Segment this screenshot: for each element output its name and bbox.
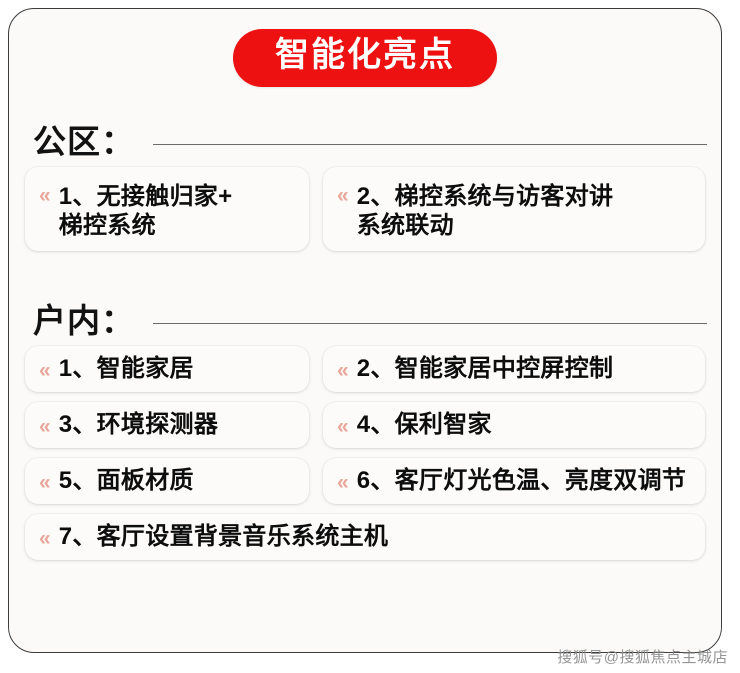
card-label: 1、智能家居 [59,354,194,383]
chevron-double-left-icon: « [337,416,347,437]
chevron-double-left-icon: « [39,185,49,206]
section-header-public: 公区： [9,115,721,167]
card-indoor-5[interactable]: « 5、面板材质 [25,458,309,504]
chevron-double-left-icon: « [39,528,49,549]
section-divider-public [153,144,707,145]
card-row: « 1、智能家居 « 2、智能家居中控屏控制 [25,346,705,392]
chevron-double-left-icon: « [39,472,49,493]
card-public-2[interactable]: « 2、梯控系统与访客对讲 系统联动 [323,167,705,251]
card-label: 6、客厅灯光色温、亮度双调节 [357,466,687,495]
chevron-double-left-icon: « [39,360,49,381]
public-card-list: « 1、无接触归家+ 梯控系统 « 2、梯控系统与访客对讲 系统联动 [9,167,721,251]
card-label: 7、客厅设置背景音乐系统主机 [59,522,389,551]
chevron-double-left-icon: « [337,185,347,206]
poster-page: 智能化亮点 公区： « 1、无接触归家+ 梯控系统 « 2、梯控系统与访客对讲 … [0,0,740,673]
section-title-public: 公区： [33,125,135,158]
card-label: 1、无接触归家+ 梯控系统 [59,182,233,241]
page-title: 智能化亮点 [275,38,455,74]
section-public-area: 公区： « 1、无接触归家+ 梯控系统 « 2、梯控系统与访客对讲 系统联动 [9,115,721,261]
card-row: « 7、客厅设置背景音乐系统主机 [25,514,705,560]
card-label: 4、保利智家 [357,410,492,439]
section-header-indoor: 户内： [9,294,721,346]
card-row: « 5、面板材质 « 6、客厅灯光色温、亮度双调节 [25,458,705,504]
chevron-double-left-icon: « [337,360,347,381]
section-indoor: 户内： « 1、智能家居 « 2、智能家居中控屏控制 « [9,294,721,570]
card-indoor-7[interactable]: « 7、客厅设置背景音乐系统主机 [25,514,705,560]
card-row: « 3、环境探测器 « 4、保利智家 [25,402,705,448]
chevron-double-left-icon: « [39,416,49,437]
poster-frame: 智能化亮点 公区： « 1、无接触归家+ 梯控系统 « 2、梯控系统与访客对讲 … [8,8,722,653]
section-divider-indoor [153,323,707,324]
card-public-1[interactable]: « 1、无接触归家+ 梯控系统 [25,167,309,251]
card-row: « 1、无接触归家+ 梯控系统 « 2、梯控系统与访客对讲 系统联动 [25,167,705,251]
chevron-double-left-icon: « [337,472,347,493]
card-indoor-4[interactable]: « 4、保利智家 [323,402,705,448]
indoor-card-list: « 1、智能家居 « 2、智能家居中控屏控制 « 3、环境探测器 « [9,346,721,560]
card-label: 2、智能家居中控屏控制 [357,354,614,383]
watermark: 搜狐号@搜狐焦点主城店 [557,646,728,667]
title-banner: 智能化亮点 [9,29,721,87]
card-indoor-3[interactable]: « 3、环境探测器 [25,402,309,448]
card-label: 3、环境探测器 [59,410,218,439]
card-label: 2、梯控系统与访客对讲 系统联动 [357,182,614,241]
card-indoor-1[interactable]: « 1、智能家居 [25,346,309,392]
card-indoor-2[interactable]: « 2、智能家居中控屏控制 [323,346,705,392]
card-indoor-6[interactable]: « 6、客厅灯光色温、亮度双调节 [323,458,705,504]
card-label: 5、面板材质 [59,466,194,495]
section-title-indoor: 户内： [33,304,135,337]
title-pill: 智能化亮点 [233,29,497,87]
